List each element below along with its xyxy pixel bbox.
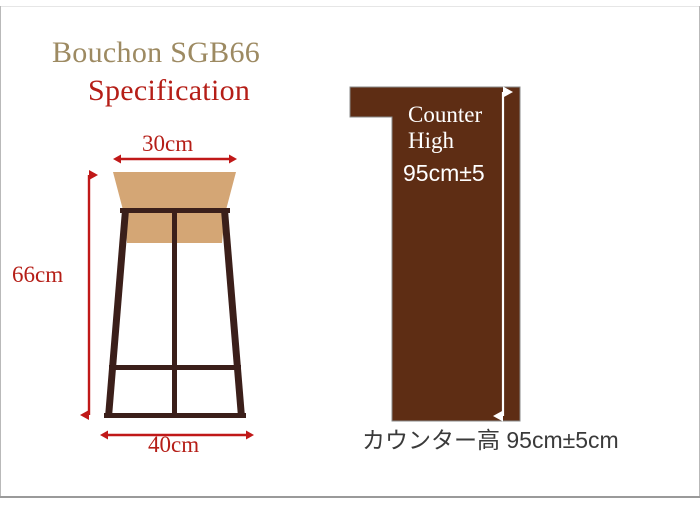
dimension-label-seat-height: 66cm (12, 262, 63, 288)
stool-seat-top (113, 172, 236, 210)
page-frame-bottom (0, 496, 700, 498)
specification-sheet: Bouchon SGB66 Specification (0, 0, 700, 526)
counter-drawing (340, 70, 680, 470)
counter-high-line2: High (408, 128, 482, 154)
stool-drawing (0, 0, 300, 480)
stool-leg-left (105, 210, 129, 417)
counter-caption-japanese: カウンター高 95cm±5cm (362, 427, 619, 454)
counter-high-line1: Counter (408, 102, 482, 128)
counter-diagram: Counter High 95cm±5 (340, 70, 680, 470)
stool-footrest-rail (109, 365, 241, 370)
stool-leg-center (172, 210, 177, 417)
dimension-label-base-width: 40cm (148, 432, 199, 458)
stool-diagram: 30cm 40cm 66cm (0, 0, 300, 480)
stool-leg-right (221, 210, 245, 417)
counter-measure-label: 95cm±5 (403, 160, 485, 186)
counter-high-label: Counter High (408, 102, 482, 154)
stool-bottom-rail (104, 413, 246, 418)
dimension-label-seat-width: 30cm (142, 131, 193, 157)
